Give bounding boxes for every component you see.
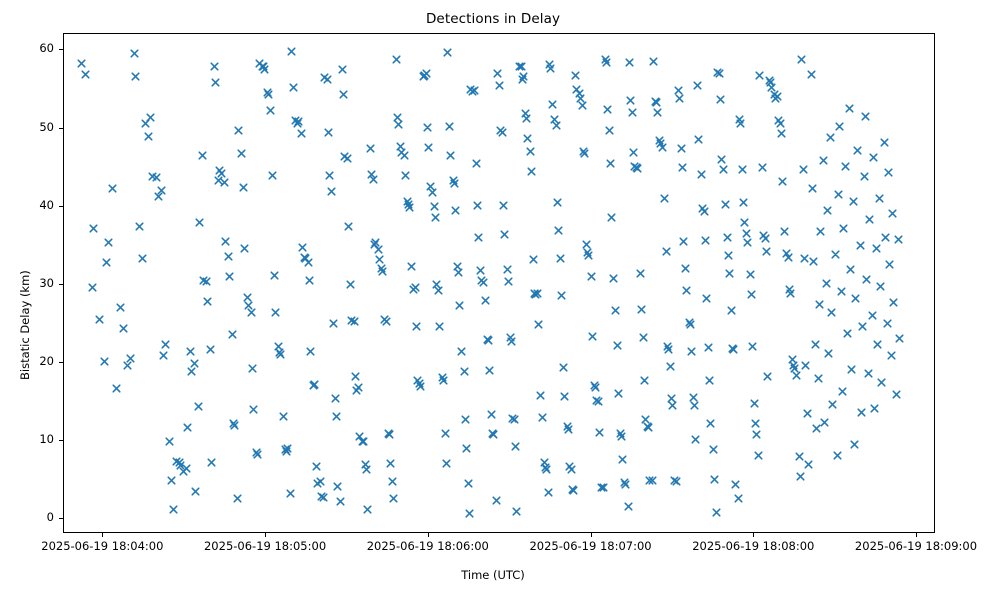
scatter-point [715,69,724,78]
scatter-point [260,65,269,74]
scatter-point [320,73,329,82]
scatter-point [648,476,657,485]
scatter-point [595,428,604,437]
scatter-point [361,460,370,469]
scatter-point [508,414,517,423]
scatter-point [801,361,810,370]
scatter-point [869,153,878,162]
scatter-point [583,248,592,257]
scatter-point [808,184,817,193]
scatter-point [276,350,285,359]
scatter-point [282,447,291,456]
scatter-point [420,71,429,80]
scatter-point [748,342,757,351]
scatter-point [325,171,334,180]
scatter-point [500,230,509,239]
scatter-point [630,162,639,171]
scatter-point [751,419,760,428]
scatter-point [717,155,726,164]
scatter-point [194,402,203,411]
scatter-point [312,462,321,471]
scatter-point [141,119,150,128]
scatter-point [766,78,775,87]
scatter-point [702,294,711,303]
scatter-point [363,505,372,514]
scatter-point [658,143,667,152]
scatter-point [784,253,793,262]
scatter-point [515,62,524,71]
scatter-point [519,72,528,81]
scatter-point [374,245,383,254]
scatter-point [397,148,406,157]
scatter-point [819,156,828,165]
scatter-point [474,233,483,242]
scatter-point [289,83,298,92]
scatter-point [843,329,852,338]
scatter-point [815,300,824,309]
scatter-point [826,133,835,142]
scatter-point [540,458,549,467]
scatter-point [795,452,804,461]
scatter-point [835,122,844,131]
scatter-point [476,266,485,275]
scatter-point [306,347,315,356]
scatter-point [521,109,530,118]
scatter-point [243,293,252,302]
scatter-point [895,334,904,343]
scatter-point [758,163,767,172]
scatter-point [234,126,243,135]
scatter-point [880,138,889,147]
scatter-point [618,455,627,464]
scatter-point [649,57,658,66]
scatter-point [477,276,486,285]
scatter-point [224,252,233,261]
scatter-point [248,364,257,373]
scatter-point [167,476,176,485]
scatter-point [851,294,860,303]
scatter-point [544,488,553,497]
scatter-point [230,421,239,430]
scatter-point [340,152,349,161]
scatter-point [428,188,437,197]
scatter-point [602,58,611,67]
scatter-point [393,113,402,122]
scatter-point [362,465,371,474]
chart-title: Detections in Delay [0,11,986,27]
scatter-point [498,128,507,137]
scatter-point [533,289,542,298]
scatter-point [493,69,502,78]
scatter-point [198,151,207,160]
scatter-point [169,505,178,514]
x-tick-mark [428,533,429,537]
y-tick-label: 50 [14,120,54,134]
scatter-point [663,342,672,351]
scatter-point [430,202,439,211]
scatter-point [847,365,856,374]
scatter-point [833,451,842,460]
scatter-point [694,135,703,144]
scatter-point [324,128,333,137]
scatter-point [283,444,292,453]
scatter-point [460,367,469,376]
scatter-point [858,322,867,331]
scatter-point [759,231,768,240]
scatter-point [275,348,284,357]
scatter-point [310,380,319,389]
scatter-point [831,250,840,259]
scatter-point [426,182,435,191]
scatter-point [664,345,673,354]
scatter-point [423,123,432,132]
scatter-point [721,200,730,209]
scatter-point [571,71,580,80]
scatter-point [504,277,513,286]
scatter-point [796,472,805,481]
scatter-point [388,477,397,486]
scatter-point [606,159,615,168]
scatter-point [293,119,302,128]
scatter-point [725,269,734,278]
scatter-point [822,279,831,288]
scatter-point [214,176,223,185]
scatter-point [270,271,279,280]
scatter-point [719,165,728,174]
scatter-point [358,437,367,446]
scatter-point [255,59,264,68]
scatter-point [183,423,192,432]
scatter-point [347,316,356,325]
scatter-point [536,391,545,400]
scatter-point [441,429,450,438]
scatter-point [339,90,348,99]
scatter-point [892,390,901,399]
scatter-point [693,81,702,90]
scatter-point [628,108,637,117]
scatter-point [812,424,821,433]
scatter-point [228,330,237,339]
scatter-point [100,357,109,366]
scatter-point [468,87,477,96]
scatter-point [709,445,718,454]
scatter-point [724,251,733,260]
scatter-point [294,117,303,126]
scatter-point [217,169,226,178]
scatter-point [182,464,191,473]
scatter-point [382,317,391,326]
x-tick-label: 2025-06-19 18:08:00 [692,539,814,553]
scatter-point [755,71,764,80]
scatter-point [116,303,125,312]
scatter-point [488,429,497,438]
scatter-point [682,286,691,295]
scatter-point [777,129,786,138]
scatter-point [545,60,554,69]
scatter-point [123,361,132,370]
scatter-point [603,105,612,114]
scatter-point [811,340,820,349]
scatter-point [179,467,188,476]
scatter-point [804,460,813,469]
scatter-point [740,218,749,227]
scatter-point [788,355,797,364]
scatter-point [672,477,681,486]
scatter-point [301,254,310,263]
scatter-point [614,389,623,398]
scatter-point [767,83,776,92]
scatter-point [643,422,652,431]
scatter-point [512,507,521,516]
scatter-point [148,172,157,181]
scatter-point [443,48,452,57]
scatter-point [472,159,481,168]
scatter-point [108,184,117,193]
scatter-point [752,430,761,439]
scatter-point [298,243,307,252]
scatter-point [552,121,561,130]
scatter-point [483,335,492,344]
scatter-point [81,70,90,79]
scatter-point [739,198,748,207]
scatter-point [252,448,261,457]
scatter-point [419,72,428,81]
scatter-point [240,244,249,253]
scatter-point [763,372,772,381]
scatter-point [462,444,471,453]
scatter-point [582,240,591,249]
scatter-point [624,502,633,511]
scatter-point [377,264,386,273]
scatter-point [652,98,661,107]
scatter-point [841,162,850,171]
scatter-point [434,286,443,295]
scatter-point [354,383,363,392]
scatter-point [632,163,641,172]
scatter-point [557,291,566,300]
scatter-point [846,265,855,274]
y-tick-label: 10 [14,432,54,446]
scatter-point [527,167,536,176]
scatter-point [333,482,342,491]
scatter-point [834,190,843,199]
scatter-point [660,194,669,203]
scatter-point [587,272,596,281]
scatter-point [492,496,501,505]
scatter-point [580,149,589,158]
scatter-point [565,462,574,471]
scatter-point [203,297,212,306]
scatter-point [435,322,444,331]
scatter-point [359,437,368,446]
scatter-point [728,344,737,353]
scatter-point [233,494,242,503]
scatter-point [782,249,791,258]
scatter-point [370,240,379,249]
scatter-point [77,59,86,68]
scatter-point [799,165,808,174]
scatter-point [554,226,563,235]
scatter-point [416,382,425,391]
scatter-point [244,301,253,310]
scatter-point [135,222,144,231]
scatter-point [621,480,630,489]
scatter-point [645,476,654,485]
scatter-point [394,120,403,129]
scatter-point [862,275,871,284]
scatter-point [786,289,795,298]
scatter-point [887,351,896,360]
scatter-point [723,233,732,242]
scatter-point [138,254,147,263]
scatter-point [823,206,832,215]
x-tick-label: 2025-06-19 18:09:00 [855,539,977,553]
scatter-point [392,55,401,64]
scatter-point [889,298,898,307]
scatter-point [888,209,897,218]
scatter-point [229,419,238,428]
scatter-point [300,253,309,262]
scatter-point [422,69,431,78]
scatter-point [344,222,353,231]
scatter-point [828,400,837,409]
scatter-point [785,285,794,294]
scatter-point [466,85,475,94]
scatter-point [550,115,559,124]
scatter-point [641,415,650,424]
scatter-point [789,361,798,370]
scatter-point [389,494,398,503]
scatter-point [206,345,215,354]
scatter-points-layer [64,34,934,532]
scatter-point [264,90,273,99]
scatter-point [776,119,785,128]
scatter-point [667,394,676,403]
scatter-point [102,258,111,267]
scatter-point [506,333,515,342]
x-tick-label: 2025-06-19 18:07:00 [529,539,651,553]
scatter-point [597,483,606,492]
scatter-point [225,272,234,281]
scatter-point [727,306,736,315]
scatter-point [451,206,460,215]
scatter-point [526,147,535,156]
scatter-point [409,285,418,294]
x-tick-mark [265,533,266,537]
scatter-point [560,392,569,401]
scatter-point [202,277,211,286]
scatter-point [268,171,277,180]
scatter-point [868,311,877,320]
y-tick-label: 20 [14,354,54,368]
scatter-point [239,183,248,192]
scatter-point [824,349,833,358]
scatter-point [465,509,474,518]
scatter-point [470,86,479,95]
scatter-point [378,267,387,276]
scatter-point [327,187,336,196]
scatter-point [130,49,139,58]
scatter-point [407,262,416,271]
scatter-point [211,78,220,87]
scatter-point [161,340,170,349]
scatter-point [599,483,608,492]
scatter-point [609,274,618,283]
scatter-point [332,412,341,421]
scatter-point [144,132,153,141]
scatter-point [355,432,364,441]
scatter-point [644,423,653,432]
scatter-point [792,371,801,380]
scatter-point [662,247,671,256]
scatter-point [199,276,208,285]
scatter-point [607,213,616,222]
scatter-point [274,342,283,351]
scatter-point [279,412,288,421]
scatter-point [481,296,490,305]
scatter-point [710,475,719,484]
scatter-point [157,186,166,195]
scatter-point [104,238,113,247]
scatter-point [572,85,581,94]
scatter-point [210,62,219,71]
scatter-point [518,75,527,84]
scatter-point [640,376,649,385]
scatter-point [507,337,516,346]
scatter-point [856,241,865,250]
scatter-point [187,367,196,376]
scatter-point [331,394,340,403]
scatter-point [484,336,493,345]
scatter-point [415,379,424,388]
scatter-point [564,425,573,434]
scatter-point [438,373,447,382]
scatter-point [154,192,163,201]
scatter-point [375,255,384,264]
scatter-point [850,440,859,449]
scatter-point [396,142,405,151]
scatter-point [873,340,882,349]
scatter-point [530,289,539,298]
scatter-point [453,262,462,271]
scatter-point [237,149,246,158]
scatter-point [845,104,854,113]
scatter-point [386,459,395,468]
scatter-point [350,317,359,326]
scatter-point [496,126,505,135]
scatter-point [780,227,789,236]
plot-area [63,33,935,533]
scatter-point [412,322,421,331]
x-tick-mark [591,533,592,537]
scatter-point [617,432,626,441]
scatter-point [731,480,740,489]
scatter-point [457,347,466,356]
scatter-point [800,254,809,263]
scatter-point [172,457,181,466]
scatter-point [517,62,526,71]
y-tick-label: 0 [14,510,54,524]
scatter-point [620,478,629,487]
scatter-point [738,165,747,174]
scatter-point [369,175,378,184]
scatter-point [511,442,520,451]
scatter-point [675,94,684,103]
scatter-point [461,415,470,424]
scatter-point [495,81,504,90]
scatter-point [485,366,494,375]
scatter-point [559,363,568,372]
